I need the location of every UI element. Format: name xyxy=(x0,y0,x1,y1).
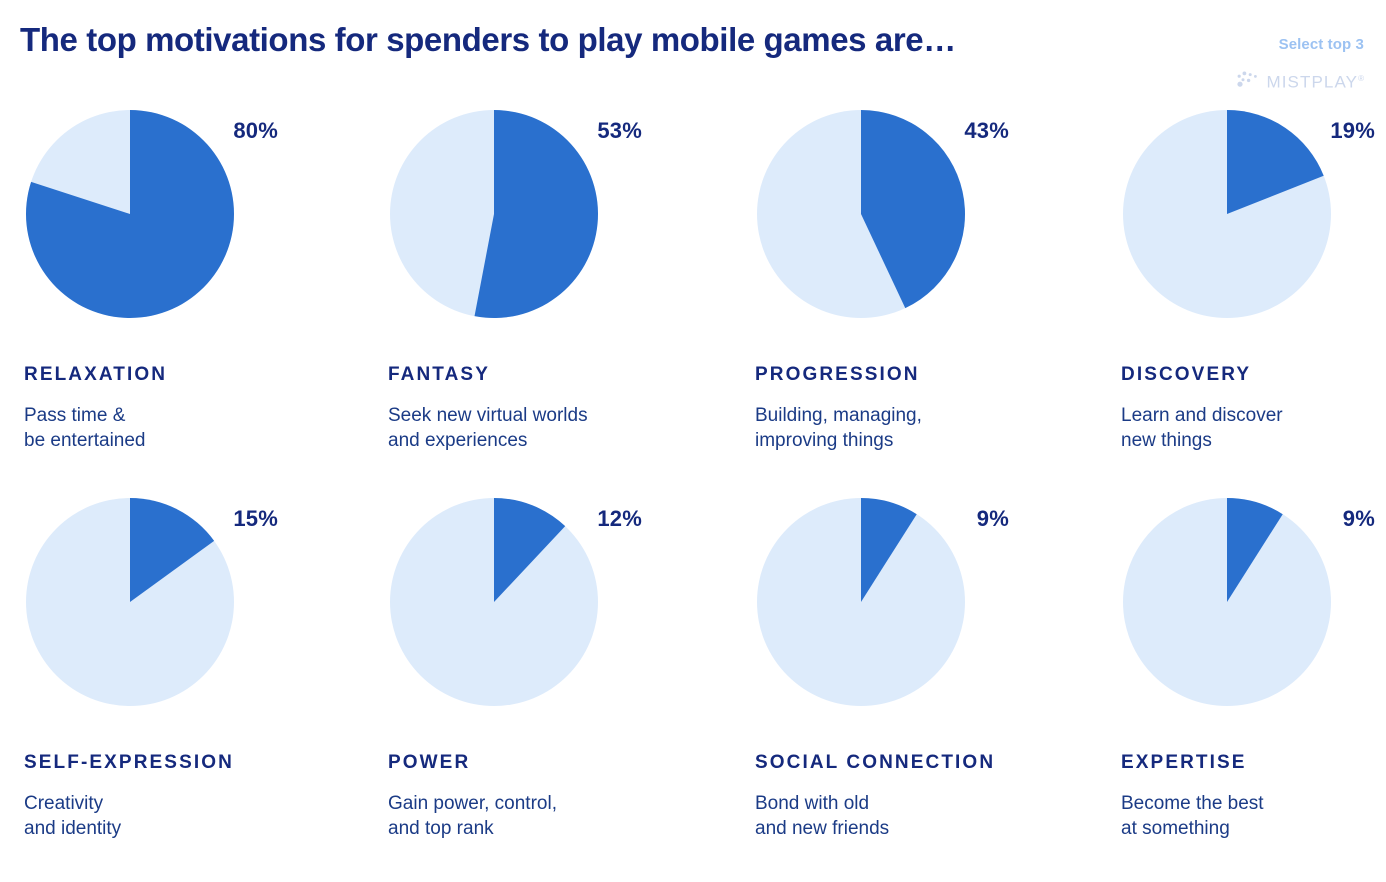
motivation-title-discovery: DISCOVERY xyxy=(1121,364,1386,386)
pie-value-label-progression: 43% xyxy=(905,118,1009,144)
pie-value-label-self-expression: 15% xyxy=(174,506,278,532)
mistplay-wordmark: MISTPLAY® xyxy=(1266,68,1364,94)
motivation-card-power: 12%POWERGain power, control, and top ran… xyxy=(388,496,728,841)
motivation-title-self-expression: SELF-EXPRESSION xyxy=(24,752,364,774)
motivation-description-relaxation: Pass time & be entertained xyxy=(24,403,364,453)
motivation-description-social-connection: Bond with old and new friends xyxy=(755,791,1095,841)
motivation-title-power: POWER xyxy=(388,752,728,774)
pie-chart-relaxation: 80% xyxy=(24,108,236,320)
motivation-description-expertise: Become the best at something xyxy=(1121,791,1386,841)
pie-value-label-expertise: 9% xyxy=(1271,506,1375,532)
motivation-description-progression: Building, managing, improving things xyxy=(755,403,1095,453)
pie-value-label-power: 12% xyxy=(538,506,642,532)
pie-value-label-fantasy: 53% xyxy=(538,118,642,144)
select-top-note: Select top 3 xyxy=(1279,36,1364,53)
pie-chart-grid: 80%RELAXATIONPass time & be entertained5… xyxy=(0,108,1386,882)
motivation-description-power: Gain power, control, and top rank xyxy=(388,791,728,841)
motivation-card-fantasy: 53%FANTASYSeek new virtual worlds and ex… xyxy=(388,108,728,453)
pie-chart-expertise: 9% xyxy=(1121,496,1333,708)
motivation-description-discovery: Learn and discover new things xyxy=(1121,403,1386,453)
pie-chart-self-expression: 15% xyxy=(24,496,236,708)
motivation-card-progression: 43%PROGRESSIONBuilding, managing, improv… xyxy=(755,108,1095,453)
mistplay-dots-logo-icon xyxy=(1235,70,1261,92)
pie-chart-discovery: 19% xyxy=(1121,108,1333,320)
motivation-title-social-connection: SOCIAL CONNECTION xyxy=(755,752,1095,774)
motivation-card-relaxation: 80%RELAXATIONPass time & be entertained xyxy=(24,108,364,453)
mistplay-wordmark-text: MISTPLAY xyxy=(1266,73,1358,92)
infographic-page: The top motivations for spenders to play… xyxy=(0,0,1386,882)
pie-chart-progression: 43% xyxy=(755,108,967,320)
page-title: The top motivations for spenders to play… xyxy=(20,18,956,62)
motivation-card-self-expression: 15%SELF-EXPRESSIONCreativity and identit… xyxy=(24,496,364,841)
motivation-description-fantasy: Seek new virtual worlds and experiences xyxy=(388,403,728,453)
pie-value-label-relaxation: 80% xyxy=(174,118,278,144)
motivation-title-fantasy: FANTASY xyxy=(388,364,728,386)
mistplay-logo: MISTPLAY® xyxy=(1235,68,1364,94)
motivation-card-expertise: 9%EXPERTISEBecome the best at something xyxy=(1121,496,1386,841)
motivation-description-self-expression: Creativity and identity xyxy=(24,791,364,841)
motivation-title-relaxation: RELAXATION xyxy=(24,364,364,386)
pie-chart-social-connection: 9% xyxy=(755,496,967,708)
pie-value-label-social-connection: 9% xyxy=(905,506,1009,532)
pie-value-label-discovery: 19% xyxy=(1271,118,1375,144)
motivation-title-progression: PROGRESSION xyxy=(755,364,1095,386)
pie-chart-fantasy: 53% xyxy=(388,108,600,320)
page-header: The top motivations for spenders to play… xyxy=(0,0,1386,108)
motivation-card-social-connection: 9%SOCIAL CONNECTIONBond with old and new… xyxy=(755,496,1095,841)
motivation-card-discovery: 19%DISCOVERYLearn and discover new thing… xyxy=(1121,108,1386,453)
registered-mark: ® xyxy=(1358,74,1364,83)
pie-chart-power: 12% xyxy=(388,496,600,708)
motivation-title-expertise: EXPERTISE xyxy=(1121,752,1386,774)
